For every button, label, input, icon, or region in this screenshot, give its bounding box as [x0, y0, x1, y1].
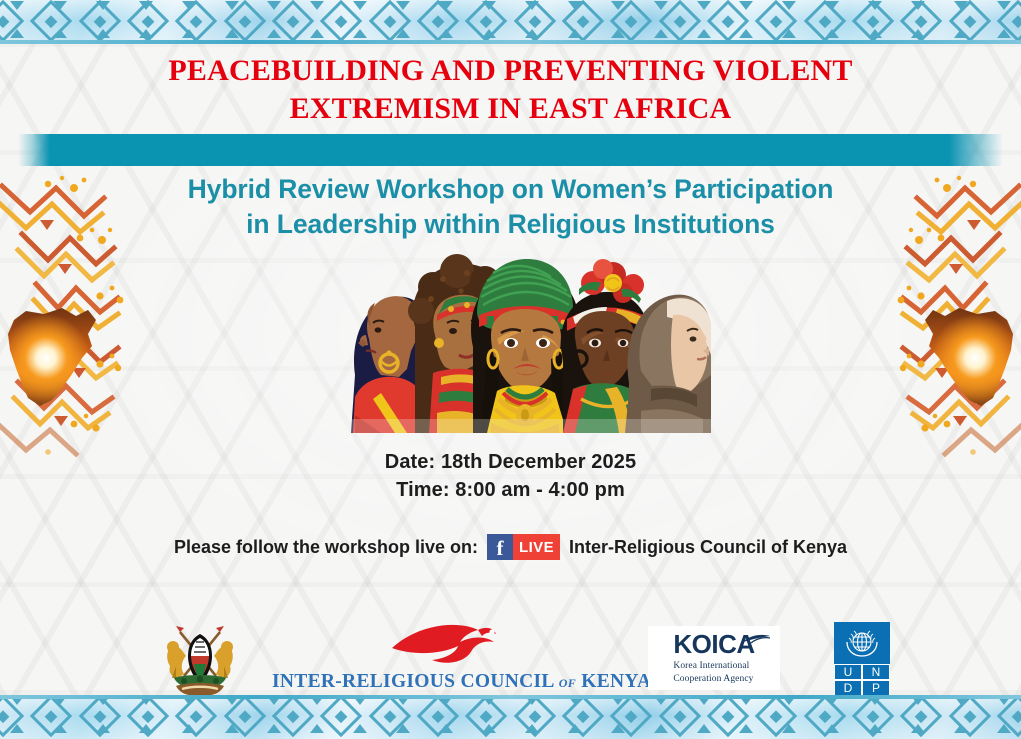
undp-letter-u: U	[834, 664, 862, 680]
triangle-icon	[10, 724, 24, 733]
subtitle-line-2: in Leadership within Religious Instituti…	[90, 207, 931, 242]
triangle-icon	[739, 724, 753, 733]
triangle-icon	[525, 29, 539, 38]
triangle-icon	[139, 724, 153, 733]
triangle-icon	[697, 724, 711, 733]
triangle-icon	[482, 724, 496, 733]
triangle-icon	[782, 724, 796, 733]
triangle-icon	[267, 29, 281, 38]
triangle-icon	[825, 29, 839, 38]
event-datetime: Date: 18th December 2025 Time: 8:00 am -…	[0, 448, 1021, 505]
triangle-icon	[739, 29, 753, 38]
border-rule	[0, 40, 1021, 44]
triangle-icon	[439, 29, 453, 38]
koica-logo: KOICA Korea International Cooperation Ag…	[648, 626, 780, 690]
triangle-icon	[868, 29, 882, 38]
triangle-icon	[225, 29, 239, 38]
triangle-icon	[911, 724, 925, 733]
kenya-coat-of-arms-logo	[158, 616, 242, 700]
triangle-icon	[611, 724, 625, 733]
top-tribal-border	[0, 0, 1021, 44]
triangle-icon	[825, 724, 839, 733]
event-time: Time: 8:00 am - 4:00 pm	[0, 476, 1021, 504]
triangle-icon	[868, 724, 882, 733]
partner-logos-row: INTER-RELIGIOUS COUNCIL of KENYA KOICA K…	[0, 612, 1021, 704]
undp-letters: U N D P	[834, 664, 890, 696]
triangle-icon	[139, 29, 153, 38]
undp-letter-n: N	[862, 664, 890, 680]
triangle-icon	[310, 29, 324, 38]
triangle-icon	[482, 29, 496, 38]
triangle-icon	[10, 29, 24, 38]
triangle-icon	[53, 29, 67, 38]
border-triangles-bottom-row	[0, 724, 1021, 734]
irck-dove-icon	[272, 618, 602, 666]
triangle-icon	[439, 724, 453, 733]
teal-divider-bar	[18, 134, 1003, 166]
irck-name: INTER-RELIGIOUS COUNCIL	[272, 671, 554, 692]
triangle-icon	[353, 29, 367, 38]
triangle-icon	[525, 724, 539, 733]
event-poster: PEACEBUILDING AND PREVENTING VIOLENT EXT…	[0, 0, 1021, 739]
koica-sub-line-2: Cooperation Agency	[673, 673, 754, 685]
triangle-icon	[954, 724, 968, 733]
irck-logo: INTER-RELIGIOUS COUNCIL of KENYA	[272, 618, 602, 698]
triangle-icon	[911, 29, 925, 38]
triangle-icon	[182, 29, 196, 38]
triangle-icon	[96, 29, 110, 38]
triangle-icon	[225, 724, 239, 733]
irck-wordmark: INTER-RELIGIOUS COUNCIL of KENYA	[272, 671, 602, 693]
koica-swoosh-icon	[741, 633, 771, 645]
triangle-icon	[353, 724, 367, 733]
live-badge-label[interactable]: LIVE	[513, 534, 560, 560]
irck-country: KENYA	[581, 671, 651, 692]
live-channel-name: Inter-Religious Council of Kenya	[569, 537, 847, 558]
triangle-icon	[568, 724, 582, 733]
triangle-icon	[310, 724, 324, 733]
event-date: Date: 18th December 2025	[0, 448, 1021, 476]
triangle-icon	[96, 724, 110, 733]
triangle-icon	[53, 724, 67, 733]
triangle-icon	[697, 29, 711, 38]
undp-letter-d: D	[834, 680, 862, 696]
triangle-icon	[654, 29, 668, 38]
triangle-icon	[396, 29, 410, 38]
un-emblem-icon	[834, 622, 890, 664]
triangle-icon	[782, 29, 796, 38]
poster-main-title: PEACEBUILDING AND PREVENTING VIOLENT EXT…	[0, 52, 1021, 129]
live-stream-line: Please follow the workshop live on: f LI…	[0, 534, 1021, 560]
left-ornament-kenya-map	[0, 168, 128, 458]
border-triangles-bottom	[0, 29, 1021, 39]
koica-wordmark: KOICA	[673, 631, 754, 657]
triangle-icon	[997, 29, 1011, 38]
koica-sub-line-1: Korea International	[673, 660, 754, 672]
triangle-icon	[568, 29, 582, 38]
bottom-tribal-border	[0, 695, 1021, 739]
right-ornament-kenya-map	[893, 168, 1021, 458]
facebook-live-badge[interactable]: f LIVE	[487, 534, 560, 560]
triangle-icon	[267, 724, 281, 733]
undp-letter-p: P	[862, 680, 890, 696]
triangle-icon	[997, 724, 1011, 733]
border-rule	[0, 695, 1021, 699]
poster-subtitle: Hybrid Review Workshop on Women’s Partic…	[90, 172, 931, 242]
triangle-icon	[654, 724, 668, 733]
five-african-women-illustration	[311, 243, 711, 433]
triangle-icon	[954, 29, 968, 38]
live-prompt-text: Please follow the workshop live on:	[174, 537, 478, 558]
irck-of: of	[559, 672, 576, 691]
triangle-icon	[611, 29, 625, 38]
triangle-icon	[396, 724, 410, 733]
koica-subtitle: Korea International Cooperation Agency	[673, 660, 754, 684]
main-title-line-1: PEACEBUILDING AND PREVENTING VIOLENT	[0, 52, 1021, 90]
subtitle-line-1: Hybrid Review Workshop on Women’s Partic…	[90, 172, 931, 207]
undp-logo: U N D P	[834, 622, 890, 696]
main-title-line-2: EXTREMISM IN EAST AFRICA	[0, 90, 1021, 128]
triangle-icon	[182, 724, 196, 733]
facebook-icon[interactable]: f	[487, 534, 513, 560]
